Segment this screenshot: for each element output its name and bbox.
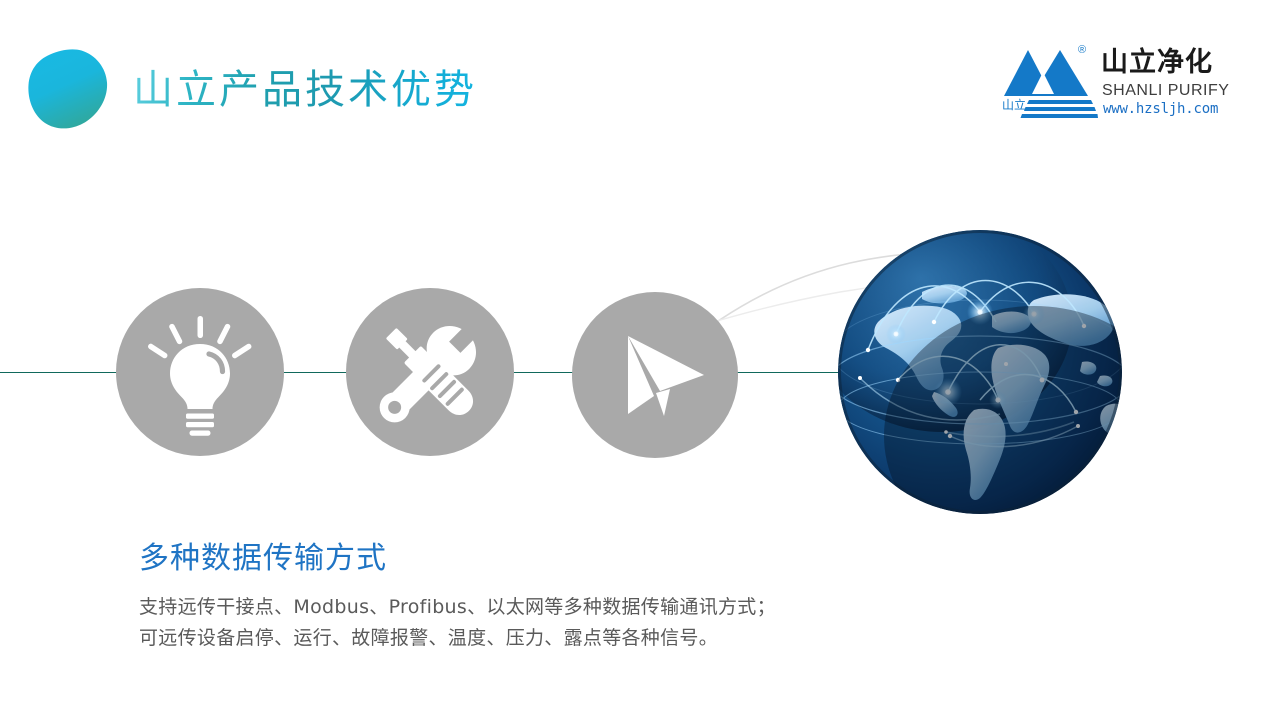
logo-mark-label: 山立 (1002, 98, 1026, 112)
registered-trademark-icon: ® (1078, 45, 1086, 56)
globe-network-icon (838, 230, 1122, 514)
process-step-lightbulb[interactable] (116, 288, 284, 456)
body-line-2: 可远传设备启停、运行、故障报警、温度、压力、露点等各种信号。 (139, 623, 776, 654)
lightbulb-icon (116, 288, 284, 456)
logo-brand-en: SHANLI PURIFY (1102, 82, 1229, 100)
paper-plane-icon (572, 292, 738, 458)
logo-website: www.hzsljh.com (1103, 101, 1218, 117)
process-step-tools[interactable] (346, 288, 514, 456)
tools-icon (346, 288, 514, 456)
logo-brand-cn: 山立净化 (1101, 48, 1213, 78)
section-heading: 多种数据传输方式 (139, 539, 387, 579)
slide-canvas: 山立产品技术优势 ® 山立 山立净化 SHANLI PURIFY www.hzs… (0, 0, 1280, 720)
company-logo: ® 山立 山立净化 SHANLI PURIFY www.hzsljh.com (1002, 44, 1222, 126)
page-title: 山立产品技术优势 (133, 62, 477, 118)
section-body: 支持远传干接点、Modbus、Profibus、以太网等多种数据传输通讯方式； … (139, 592, 776, 654)
decorative-blob-shape (26, 48, 110, 132)
body-line-1: 支持远传干接点、Modbus、Profibus、以太网等多种数据传输通讯方式； (139, 592, 776, 623)
process-step-send[interactable] (572, 292, 738, 458)
